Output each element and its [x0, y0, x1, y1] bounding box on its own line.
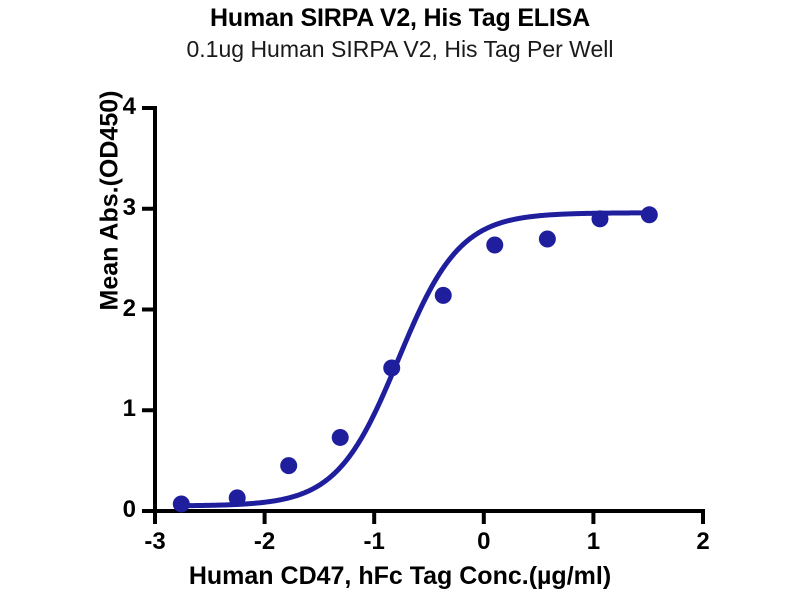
- x-tick-label-0: -3: [132, 528, 178, 556]
- data-point-5: [435, 287, 452, 304]
- plot-area: Mean Abs.(OD450) Human CD47, hFc Tag Con…: [0, 0, 800, 600]
- data-point-4: [383, 359, 400, 376]
- y-tick-label-1: 1: [102, 395, 136, 423]
- data-point-2: [280, 457, 297, 474]
- data-point-8: [591, 210, 608, 227]
- fit-curve-group: [181, 213, 649, 506]
- data-point-7: [539, 230, 556, 247]
- data-point-1: [229, 489, 246, 506]
- x-axis-title: Human CD47, hFc Tag Conc.(µg/ml): [0, 562, 800, 591]
- y-tick-label-4: 4: [102, 93, 136, 121]
- x-tick-label-4: 1: [570, 528, 616, 556]
- chart-figure: Human SIRPA V2, His Tag ELISA 0.1ug Huma…: [0, 0, 800, 600]
- y-tick-label-2: 2: [102, 295, 136, 323]
- data-point-9: [641, 206, 658, 223]
- fit-curve: [181, 213, 649, 506]
- axes-group: [142, 108, 703, 524]
- data-point-6: [486, 237, 503, 254]
- x-tick-label-3: 0: [461, 528, 507, 556]
- x-tick-label-5: 2: [680, 528, 726, 556]
- y-tick-label-3: 3: [102, 194, 136, 222]
- x-tick-label-1: -2: [242, 528, 288, 556]
- x-tick-label-2: -1: [351, 528, 397, 556]
- data-points-group: [173, 206, 658, 512]
- y-tick-label-0: 0: [102, 496, 136, 524]
- data-point-0: [173, 495, 190, 512]
- data-point-3: [332, 429, 349, 446]
